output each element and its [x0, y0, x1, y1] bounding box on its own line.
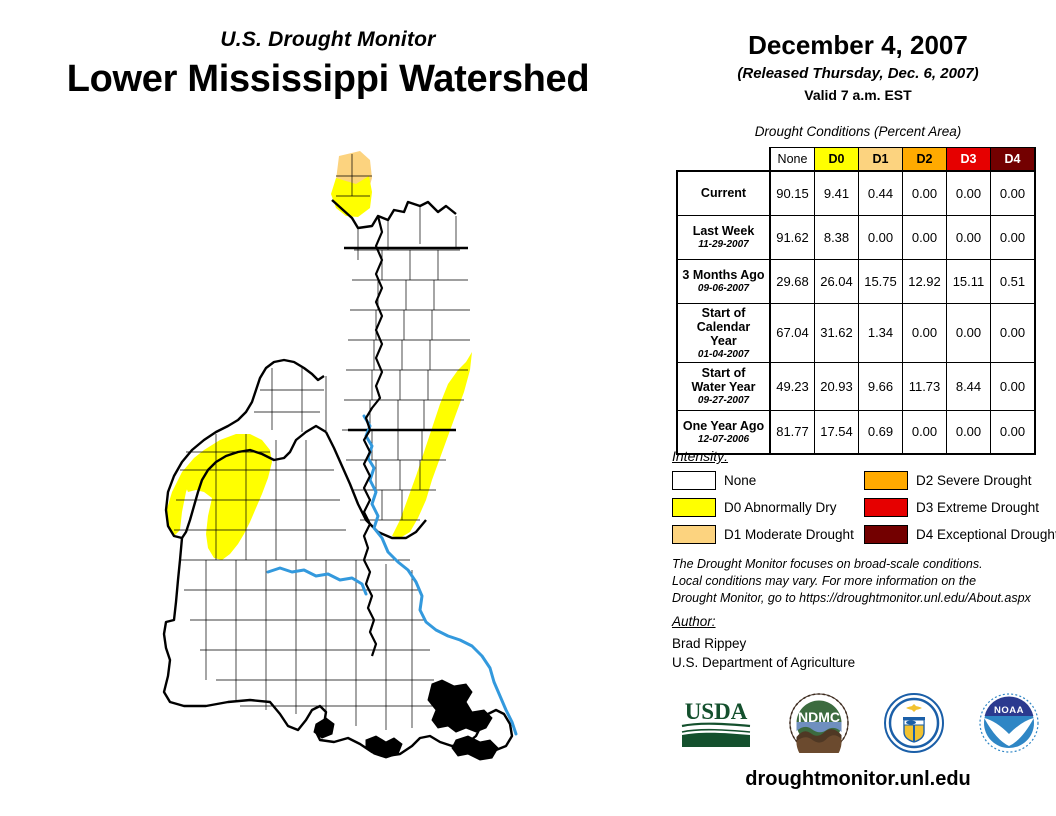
legend-label: D1 Moderate Drought [724, 527, 854, 542]
table-cell-d4: 0.00 [991, 171, 1036, 215]
author-label: Author: [672, 612, 1056, 632]
table-cell-d4: 0.00 [991, 215, 1036, 259]
table-cell-none: 91.62 [770, 215, 815, 259]
svg-text:USDA: USDA [684, 699, 747, 724]
ndmc-logo: NDMC [789, 693, 849, 758]
table-row-date: 11-29-2007 [682, 239, 765, 250]
drought-conditions-table: NoneD0D1D2D3D4 Current90.159.410.440.000… [676, 147, 1036, 455]
table-cell-d2: 0.00 [903, 215, 947, 259]
table-col-header-d1: D1 [859, 148, 903, 172]
table-cell-d2: 0.00 [903, 303, 947, 362]
table-row: Current90.159.410.440.000.000.00 [677, 171, 1035, 215]
svg-text:NDMC: NDMC [798, 709, 840, 725]
table-row-label: Start ofWater Year09-27-2007 [677, 362, 770, 410]
table-cell-d3: 0.00 [947, 303, 991, 362]
table-cell-d4: 0.00 [991, 303, 1036, 362]
table-cell-none: 90.15 [770, 171, 815, 215]
website-url: droughtmonitor.unl.edu [660, 768, 1056, 791]
table-cell-d3: 0.00 [947, 215, 991, 259]
date-header: December 4, 2007 (Released Thursday, Dec… [660, 30, 1056, 103]
drought-map [120, 140, 540, 790]
table-cell-d1: 1.34 [859, 303, 903, 362]
table-cell-d2: 12.92 [903, 259, 947, 303]
legend-swatch [864, 525, 908, 544]
table-row-date: 01-04-2007 [682, 349, 765, 360]
legend-swatch [864, 471, 908, 490]
author-org: U.S. Department of Agriculture [672, 653, 1056, 673]
table-cell-d1: 15.75 [859, 259, 903, 303]
table-row-label: 3 Months Ago09-06-2007 [677, 259, 770, 303]
table-row-date: 09-27-2007 [682, 395, 765, 406]
legend-label: None [724, 473, 756, 488]
legend-grid: NoneD2 Severe DroughtD0 Abnormally DryD3… [672, 471, 1056, 544]
table-col-header-none: None [770, 148, 815, 172]
table-body: Current90.159.410.440.000.000.00Last Wee… [677, 171, 1035, 454]
table-corner-cell [677, 148, 770, 172]
author-name: Brad Rippey [672, 634, 1056, 654]
legend-swatch [672, 498, 716, 517]
table-row: Start ofCalendar Year01-04-200767.0431.6… [677, 303, 1035, 362]
valid-time: Valid 7 a.m. EST [660, 87, 1056, 103]
usda-logo: USDA [678, 695, 754, 756]
table-cell-d1: 0.00 [859, 215, 903, 259]
logo-row: USDA NDMC [660, 692, 1056, 758]
table-cell-d2: 0.00 [903, 171, 947, 215]
table-cell-none: 49.23 [770, 362, 815, 410]
table-col-header-d2: D2 [903, 148, 947, 172]
table-row-label: Current [677, 171, 770, 215]
title-block: U.S. Drought Monitor Lower Mississippi W… [0, 28, 656, 101]
usdc-seal [884, 693, 944, 758]
legend-swatch [672, 525, 716, 544]
legend-item: D2 Severe Drought [864, 471, 1056, 490]
table-cell-d0: 20.93 [815, 362, 859, 410]
legend-label: D2 Severe Drought [916, 473, 1032, 488]
disclaimer-line-1: The Drought Monitor focuses on broad-sca… [672, 556, 1056, 573]
table-cell-d3: 15.11 [947, 259, 991, 303]
legend-item: D3 Extreme Drought [864, 498, 1056, 517]
page-title: Lower Mississippi Watershed [0, 58, 656, 101]
table-col-header-d0: D0 [815, 148, 859, 172]
disclaimer-line-3: Drought Monitor, go to https://droughtmo… [672, 590, 1056, 607]
map-delta [314, 680, 498, 760]
disclaimer-line-2: Local conditions may vary. For more info… [672, 573, 1056, 590]
author-block: Author: Brad Rippey U.S. Department of A… [672, 612, 1056, 673]
table-cell-none: 29.68 [770, 259, 815, 303]
legend-label: D4 Exceptional Drought [916, 527, 1056, 542]
table-cell-d1: 0.44 [859, 171, 903, 215]
table-cell-none: 67.04 [770, 303, 815, 362]
table-cell-d4: 0.51 [991, 259, 1036, 303]
table-cell-d3: 8.44 [947, 362, 991, 410]
table-col-header-d4: D4 [991, 148, 1036, 172]
table-row-date: 12-07-2006 [682, 434, 765, 445]
legend-swatch [672, 471, 716, 490]
disclaimer-text: The Drought Monitor focuses on broad-sca… [672, 556, 1056, 607]
table-row: Last Week11-29-200791.628.380.000.000.00… [677, 215, 1035, 259]
table-row-label: Last Week11-29-2007 [677, 215, 770, 259]
legend-label: D3 Extreme Drought [916, 500, 1039, 515]
table-header-row: NoneD0D1D2D3D4 [677, 148, 1035, 172]
release-date: (Released Thursday, Dec. 6, 2007) [660, 65, 1056, 82]
legend-title: Intensity: [672, 448, 1056, 464]
legend-item: D0 Abnormally Dry [672, 498, 864, 517]
table-cell-d2: 11.73 [903, 362, 947, 410]
table-cell-d0: 9.41 [815, 171, 859, 215]
table-col-header-d3: D3 [947, 148, 991, 172]
intensity-legend: Intensity: NoneD2 Severe DroughtD0 Abnor… [672, 448, 1056, 544]
map-svg [120, 140, 540, 790]
legend-item: D1 Moderate Drought [672, 525, 864, 544]
program-title: U.S. Drought Monitor [0, 28, 656, 52]
table-cell-d3: 0.00 [947, 171, 991, 215]
map-date: December 4, 2007 [660, 30, 1056, 61]
legend-item: None [672, 471, 864, 490]
table-row: 3 Months Ago09-06-200729.6826.0415.7512.… [677, 259, 1035, 303]
noaa-logo: NOAA [979, 693, 1039, 758]
svg-text:NOAA: NOAA [994, 705, 1024, 716]
table-cell-d0: 26.04 [815, 259, 859, 303]
table-row: Start ofWater Year09-27-200749.2320.939.… [677, 362, 1035, 410]
table-cell-d0: 8.38 [815, 215, 859, 259]
table-cell-d1: 9.66 [859, 362, 903, 410]
table-cell-d0: 31.62 [815, 303, 859, 362]
table-cell-d4: 0.00 [991, 362, 1036, 410]
legend-item: D4 Exceptional Drought [864, 525, 1056, 544]
table-row-label: Start ofCalendar Year01-04-2007 [677, 303, 770, 362]
legend-swatch [864, 498, 908, 517]
table-caption: Drought Conditions (Percent Area) [660, 124, 1056, 139]
legend-label: D0 Abnormally Dry [724, 500, 837, 515]
table-row-date: 09-06-2007 [682, 283, 765, 294]
